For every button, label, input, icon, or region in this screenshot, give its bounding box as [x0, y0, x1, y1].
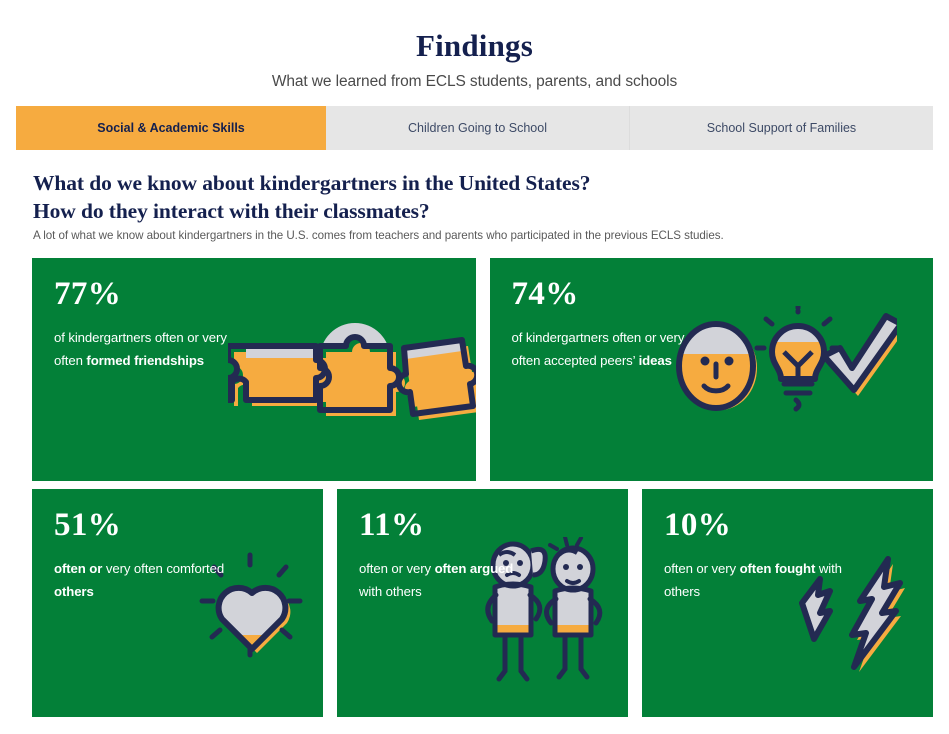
- stat-card: 77% of kindergartners often or very ofte…: [32, 258, 476, 481]
- section-intro-text: A lot of what we know about kindergartne…: [33, 229, 913, 242]
- stat-description: often or very often argued with others: [359, 558, 539, 604]
- stat-percent: 11%: [359, 509, 539, 542]
- stat-cards-top-row: 77% of kindergartners often or very ofte…: [32, 258, 933, 481]
- stat-cards-bottom-row: 51% often or very often comforted others: [32, 489, 933, 717]
- page-subtitle: What we learned from ECLS students, pare…: [0, 73, 949, 91]
- stat-description: of kindergartners often or very often ac…: [512, 327, 692, 373]
- tab-school-support-of-families[interactable]: School Support of Families: [629, 106, 933, 150]
- stat-card: 74% of kindergartners often or very ofte…: [490, 258, 934, 481]
- stat-percent: 74%: [512, 278, 692, 311]
- page-title: Findings: [0, 0, 949, 63]
- stat-card: 11% often or very often argued with othe…: [337, 489, 628, 717]
- findings-tabbar: Social & Academic Skills Children Going …: [16, 106, 933, 150]
- puzzle-pieces-icon: [228, 318, 476, 428]
- stat-percent: 77%: [54, 278, 234, 311]
- stat-percent: 10%: [664, 509, 844, 542]
- stat-description: of kindergartners often or very often fo…: [54, 327, 234, 373]
- tab-social-academic-skills[interactable]: Social & Academic Skills: [16, 106, 326, 150]
- stat-percent: 51%: [54, 509, 234, 542]
- section-heading-line-2: How do they interact with their classmat…: [33, 198, 913, 226]
- stat-card-text: 51% often or very often comforted others: [54, 509, 234, 604]
- stat-card-text: 11% often or very often argued with othe…: [359, 509, 539, 604]
- stat-card: 10% often or very often fought with othe…: [642, 489, 933, 717]
- stat-card-text: 77% of kindergartners often or very ofte…: [54, 278, 234, 373]
- stat-description: often or very often fought with others: [664, 558, 844, 604]
- tab-children-going-to-school[interactable]: Children Going to School: [326, 106, 629, 150]
- stat-card: 51% often or very often comforted others: [32, 489, 323, 717]
- findings-page: Findings What we learned from ECLS stude…: [0, 0, 949, 734]
- section-heading-line-1: What do we know about kindergartners in …: [33, 170, 913, 198]
- stat-description: often or very often comforted others: [54, 558, 234, 604]
- face-lightbulb-check-icon: [672, 306, 897, 421]
- stat-card-text: 10% often or very often fought with othe…: [664, 509, 844, 604]
- section-heading: What do we know about kindergartners in …: [33, 170, 913, 225]
- stat-card-text: 74% of kindergartners often or very ofte…: [512, 278, 692, 373]
